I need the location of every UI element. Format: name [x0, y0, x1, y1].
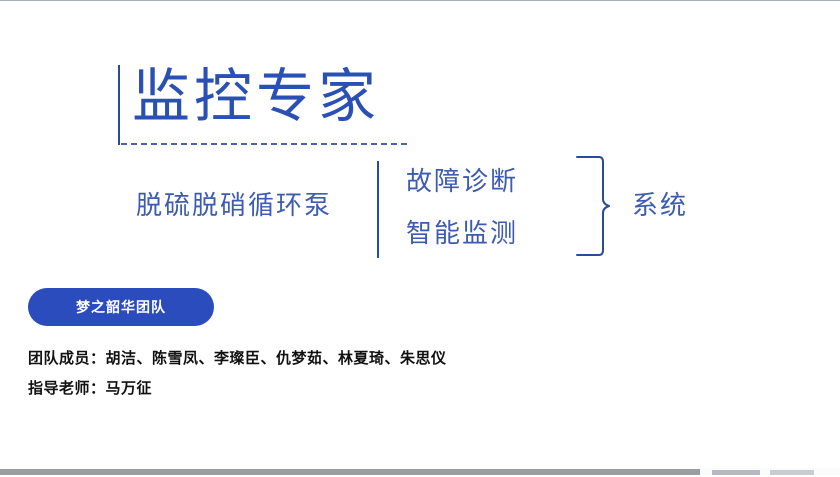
team-members-line: 团队成员：胡洁、陈雪凤、李璨臣、仇梦茹、林夏琦、朱思仪: [28, 344, 728, 374]
scrollbar-segment-tertiary[interactable]: [770, 470, 814, 475]
subtitle-subject: 脱硫脱硝循环泵: [136, 186, 332, 226]
curly-brace-icon: [573, 155, 613, 257]
subtitle-system-label: 系统: [632, 186, 688, 226]
subtitle-feature-list: 故障诊断 智能监测: [406, 156, 576, 260]
bottom-scrollbar-strip[interactable]: [0, 466, 840, 477]
subtitle-group: 脱硫脱硝循环泵 故障诊断 智能监测 系统: [118, 156, 738, 261]
subtitle-feature-item: 故障诊断: [406, 156, 576, 208]
credits-block: 团队成员：胡洁、陈雪凤、李璨臣、仇梦茹、林夏琦、朱思仪 指导老师：马万征: [28, 344, 728, 404]
title-dashed-divider: [121, 143, 407, 145]
team-name-badge: 梦之韶华团队: [28, 288, 214, 326]
presentation-title-slide: 监控专家 脱硫脱硝循环泵 故障诊断 智能监测 系统 梦之韶华团队 团队成员：胡洁…: [0, 0, 840, 477]
title-accent-rule: [118, 65, 120, 145]
page-title: 监控专家: [132, 56, 380, 136]
scrollbar-thumb[interactable]: [0, 469, 700, 475]
subtitle-vertical-divider: [377, 161, 379, 258]
advisor-line: 指导老师：马万征: [28, 374, 728, 404]
scrollbar-segment-secondary[interactable]: [712, 470, 760, 475]
subtitle-feature-item: 智能监测: [406, 208, 576, 260]
